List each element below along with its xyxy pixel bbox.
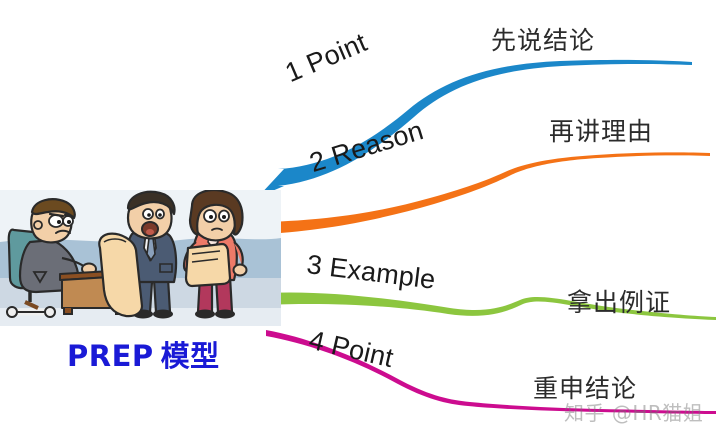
page-title: PREP模型 xyxy=(67,333,220,375)
chinese-label-reason: 再讲理由 xyxy=(549,112,653,148)
prep-model-diagram: 1 Point 2 Reason 3 Example 4 Point 先说结论 … xyxy=(0,0,720,443)
title-suffix: 模型 xyxy=(161,339,220,373)
watermark: 知乎 @HR猫姐 xyxy=(564,397,703,426)
chinese-label-point: 先说结论 xyxy=(491,21,595,57)
illustration-panel xyxy=(0,190,281,326)
title-acronym: PREP xyxy=(67,339,154,373)
chinese-label-example: 拿出例证 xyxy=(567,283,671,319)
